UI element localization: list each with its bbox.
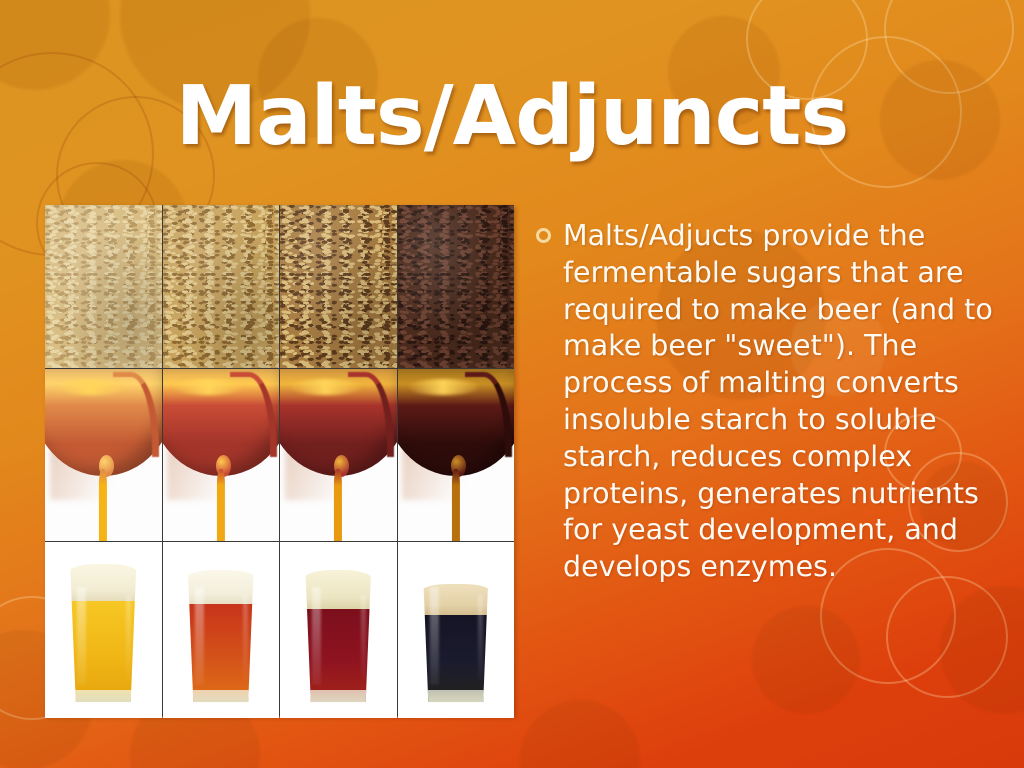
collage-cell-dark-extract-pour — [280, 369, 397, 541]
dark-ruby-beer-photo — [280, 542, 397, 718]
collage-cell-golden-beer-glass — [45, 542, 162, 718]
collage-cell-black-extract-pour — [398, 369, 515, 541]
collage-cell-pale-extract-pour — [45, 369, 162, 541]
content-bullet-list: Malts/Adjucts provide the fermentable su… — [536, 218, 998, 586]
amber-red-beer-photo — [163, 542, 280, 718]
pale-malt-grain-texture — [45, 205, 162, 368]
dark-extract-pour-photo — [280, 369, 397, 541]
malt-color-collage-image — [45, 205, 514, 716]
collage-cell-dark-ruby-beer-glass — [280, 542, 397, 718]
black-stout-beer-photo — [398, 542, 515, 718]
amber-malt-grain-texture — [163, 205, 280, 368]
pale-extract-pour-photo — [45, 369, 162, 541]
collage-cell-amber-extract-pour — [163, 369, 280, 541]
golden-beer-photo — [45, 542, 162, 718]
collage-cell-amber-red-beer-glass — [163, 542, 280, 718]
collage-cell-pale-malt-grain — [45, 205, 162, 368]
slide-title: Malts/Adjuncts — [0, 74, 1024, 160]
collage-cell-amber-malt-grain — [163, 205, 280, 368]
black-extract-pour-photo — [398, 369, 515, 541]
roasted-black-malt-grain-texture — [398, 205, 515, 368]
brown-malt-grain-texture — [280, 205, 397, 368]
amber-extract-pour-photo — [163, 369, 280, 541]
bubble-disc — [940, 586, 1024, 714]
bubble-disc — [752, 606, 860, 714]
collage-cell-brown-malt-grain — [280, 205, 397, 368]
collage-cell-roasted-black-malt-grain — [398, 205, 515, 368]
bubble-ring — [886, 576, 1008, 698]
collage-cell-black-stout-beer-glass — [398, 542, 515, 718]
bubble-disc — [520, 700, 640, 768]
hollow-circle-bullet-icon — [536, 228, 551, 243]
presentation-slide: Malts/Adjuncts — [0, 0, 1024, 768]
body-paragraph: Malts/Adjucts provide the fermentable su… — [563, 218, 998, 586]
